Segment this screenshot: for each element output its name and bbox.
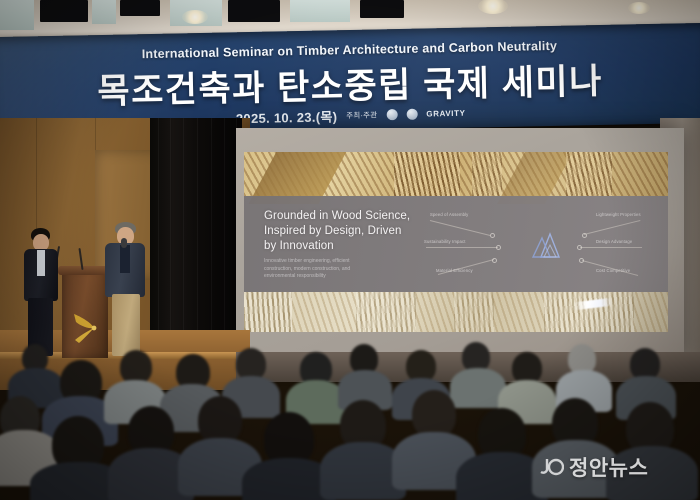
slide-headline: Grounded in Wood Science, Inspired by De…: [264, 209, 439, 254]
ceiling-downlight: [628, 2, 650, 14]
presentation-slide: Grounded in Wood Science, Inspired by De…: [244, 152, 668, 332]
audience-head: [120, 350, 152, 384]
mountain-peak-logo-icon: [530, 229, 566, 259]
watermark: 정안뉴스: [540, 452, 648, 482]
slide-content-panel: Grounded in Wood Science, Inspired by De…: [244, 196, 668, 292]
watermark-brand: 정안뉴스: [569, 452, 648, 482]
slide-radial-diagram: Speed of Assembly Sustainability Impact …: [424, 196, 668, 292]
ceiling-downlight: [182, 10, 208, 24]
canada-wood-logo: [386, 109, 397, 120]
watermark-logo-icon: [540, 455, 564, 479]
gravity-logo: GRAVITY: [426, 109, 465, 119]
audience-head: [412, 390, 456, 438]
ceiling-downlight: [478, 0, 508, 14]
diagram-label-left-1: Speed of Assembly: [430, 212, 468, 217]
photo-scene: International Seminar on Timber Architec…: [0, 0, 700, 500]
slide-wood-texture-bottom: [244, 292, 668, 332]
diagram-label-left-2: Sustainability Impact: [424, 239, 466, 244]
slide-headline-line1: Grounded in Wood Science,: [264, 209, 439, 224]
banner-host-label: 주최·주관: [346, 109, 377, 121]
slide-body-line1: Innovative timber engineering, efficient: [264, 258, 414, 266]
diagram-label-right-1: Lightweight Properties: [596, 212, 641, 217]
slide-headline-line2: Inspired by Design, Driven: [264, 224, 439, 239]
projection-screen: Grounded in Wood Science, Inspired by De…: [236, 128, 684, 360]
slide-body-line2: construction, modern construction, and: [264, 266, 414, 274]
slide-wood-texture-top: [244, 152, 668, 196]
diagram-right-2: Design Advantage: [596, 239, 632, 244]
slide-body-text: Innovative timber engineering, efficient…: [264, 258, 414, 281]
slide-headline-line3: by Innovation: [264, 239, 439, 254]
handheld-microphone-icon: [121, 238, 127, 248]
korea-wood-logo: [406, 109, 417, 120]
audience-head: [198, 396, 242, 444]
slide-body-line3: environmental responsibility: [264, 273, 414, 281]
banner-date: 2025. 10. 23.(목): [236, 106, 338, 127]
